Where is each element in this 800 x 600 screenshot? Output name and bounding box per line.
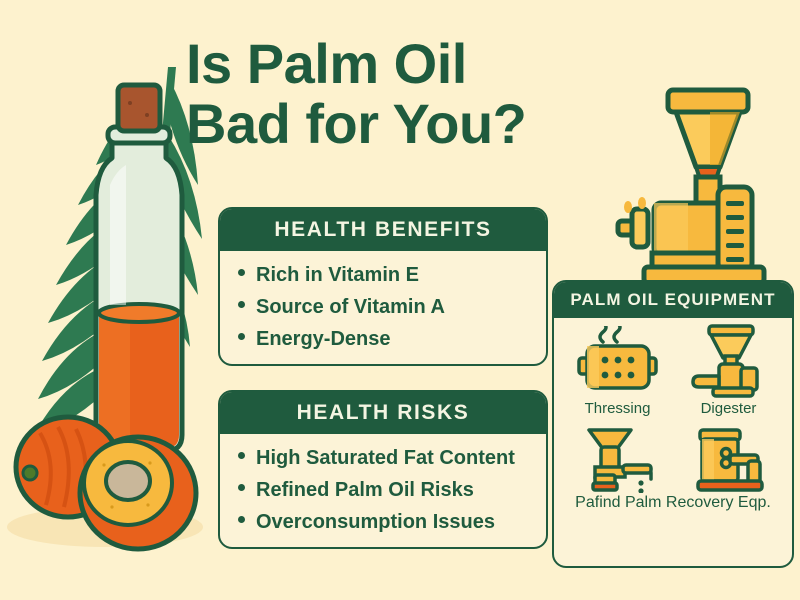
oil-droplet-icon xyxy=(624,201,632,213)
list-item: High Saturated Fat Content xyxy=(238,443,532,473)
health-benefits-header: HEALTH BENEFITS xyxy=(220,209,546,251)
equipment-bottom-label: Pafind Palm Recovery Eqp. xyxy=(554,494,792,512)
oil-droplet-icon xyxy=(638,197,646,209)
equipment-icon-grid-top: Thressing Digester xyxy=(554,318,792,417)
digester-machine-icon xyxy=(689,324,769,398)
press-svg xyxy=(575,427,661,493)
list-item-label: Refined Palm Oil Risks xyxy=(256,475,474,505)
palm-fruit-halved-icon xyxy=(80,437,196,549)
list-item: Overconsumption Issues xyxy=(238,507,532,537)
equipment-label-threshing: Thressing xyxy=(585,400,651,417)
bullet-icon xyxy=(238,452,245,459)
equipment-item-threshing: Thressing xyxy=(562,324,673,417)
list-item-label: Overconsumption Issues xyxy=(256,507,495,537)
health-risks-header: HEALTH RISKS xyxy=(220,392,546,434)
health-risks-list: High Saturated Fat Content Refined Palm … xyxy=(220,434,546,547)
equipment-item-press xyxy=(562,419,673,493)
threshing-svg xyxy=(575,326,661,398)
equipment-item-digester: Digester xyxy=(673,324,784,417)
list-item-label: High Saturated Fat Content xyxy=(256,443,515,473)
equipment-icon-grid-bottom xyxy=(554,417,792,493)
palm-oil-press-icon xyxy=(575,419,661,493)
list-item: Energy-Dense xyxy=(238,324,532,354)
tank-svg xyxy=(686,427,772,493)
equipment-label-digester: Digester xyxy=(701,400,757,417)
bullet-icon xyxy=(238,269,245,276)
list-item: Source of Vitamin A xyxy=(238,292,532,322)
threshing-machine-icon xyxy=(575,324,661,398)
bullet-icon xyxy=(238,516,245,523)
infographic-poster: Is Palm Oil Bad for You? HEALTH BENEFITS… xyxy=(0,0,800,600)
health-benefits-list: Rich in Vitamin E Source of Vitamin A En… xyxy=(220,251,546,364)
list-item-label: Rich in Vitamin E xyxy=(256,260,419,290)
list-item-label: Energy-Dense xyxy=(256,324,391,354)
digester-svg xyxy=(689,324,769,398)
bullet-icon xyxy=(238,301,245,308)
palm-oil-equipment-panel: PALM OIL EQUIPMENT xyxy=(552,280,794,568)
list-item: Refined Palm Oil Risks xyxy=(238,475,532,505)
grinder-svg xyxy=(610,55,800,285)
list-item-label: Source of Vitamin A xyxy=(256,292,445,322)
oil-bottle-icon xyxy=(96,85,182,451)
palm-oil-grinder-icon xyxy=(610,55,800,285)
bullet-icon xyxy=(238,333,245,340)
oil-recovery-tank-icon xyxy=(686,419,772,493)
equipment-panel-header: PALM OIL EQUIPMENT xyxy=(554,282,792,318)
title-line-2: Bad for You? xyxy=(186,94,606,154)
bullet-icon xyxy=(238,484,245,491)
poster-title: Is Palm Oil Bad for You? xyxy=(186,34,606,154)
equipment-item-recovery-tank xyxy=(673,419,784,493)
list-item: Rich in Vitamin E xyxy=(238,260,532,290)
health-risks-card: HEALTH RISKS High Saturated Fat Content … xyxy=(218,390,548,549)
health-benefits-card: HEALTH BENEFITS Rich in Vitamin E Source… xyxy=(218,207,548,366)
title-line-1: Is Palm Oil xyxy=(186,34,606,94)
